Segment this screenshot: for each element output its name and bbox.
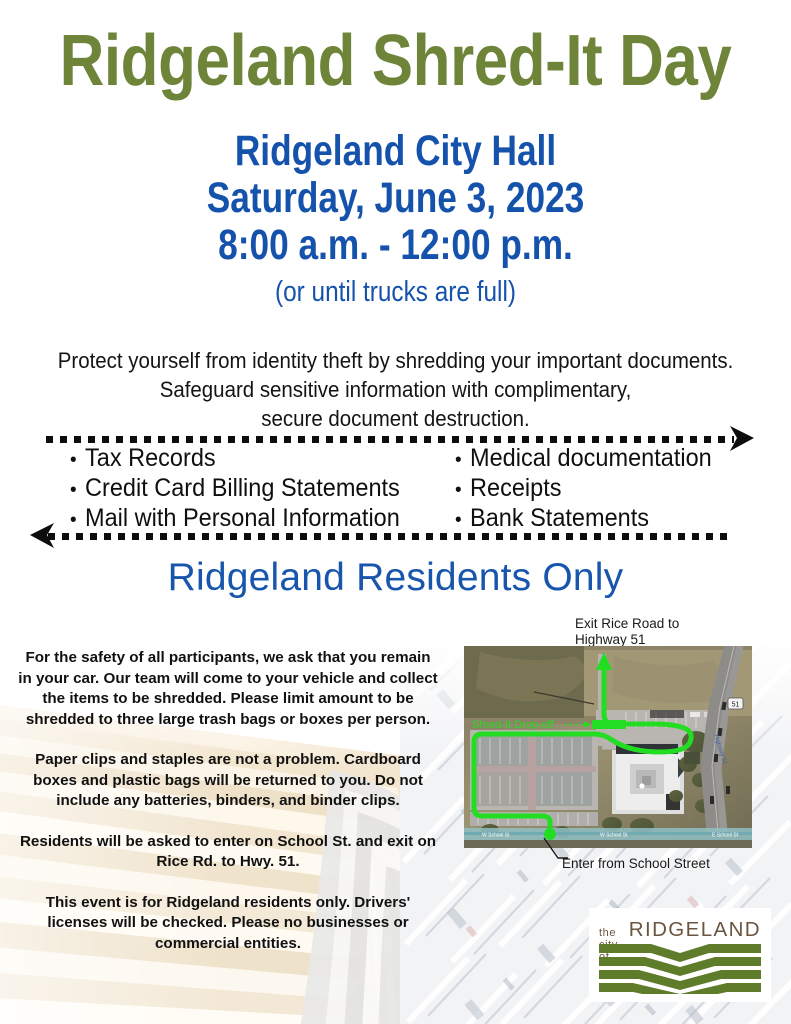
logo-waves-icon bbox=[599, 944, 761, 994]
dotted-rail-top bbox=[46, 436, 734, 443]
list-item: • Tax Records bbox=[70, 444, 432, 474]
bullet-icon: • bbox=[70, 480, 85, 500]
aerial-map-image: 51 Highway 51 W School St W School St E … bbox=[464, 646, 752, 848]
list-item-label: Receipts bbox=[470, 474, 561, 503]
event-details: Ridgeland City Hall Saturday, June 3, 20… bbox=[0, 128, 791, 312]
list-item-label: Mail with Personal Information bbox=[85, 504, 400, 533]
accepted-items-box: • Tax Records • Credit Card Billing Stat… bbox=[38, 434, 743, 544]
accepted-items-columns: • Tax Records • Credit Card Billing Stat… bbox=[38, 444, 743, 534]
bullet-icon: • bbox=[455, 480, 470, 500]
intro-line-2: Safeguard sensitive information with com… bbox=[28, 375, 764, 404]
bullet-icon: • bbox=[70, 450, 85, 470]
svg-text:W School St: W School St bbox=[600, 833, 628, 839]
dropoff-label: Shred-It Drop-off bbox=[472, 719, 555, 731]
list-item-label: Tax Records bbox=[85, 444, 216, 473]
city-logo: the city of RIDGELAND bbox=[589, 908, 771, 1002]
intro-line-1: Protect yourself from identity theft by … bbox=[28, 346, 764, 375]
instructions-paragraph-3: Residents will be asked to enter on Scho… bbox=[18, 832, 438, 873]
map-caption-exit: Exit Rice Road to Highway 51 bbox=[575, 616, 679, 648]
accepted-items-left-column: • Tax Records • Credit Card Billing Stat… bbox=[38, 444, 455, 534]
intro-paragraph: Protect yourself from identity theft by … bbox=[28, 346, 764, 433]
svg-text:W School St: W School St bbox=[482, 833, 510, 839]
list-item: • Medical documentation bbox=[455, 444, 726, 474]
event-venue: Ridgeland City Hall bbox=[71, 128, 720, 175]
svg-text:51: 51 bbox=[732, 702, 740, 709]
dotted-rail-bottom bbox=[48, 533, 730, 540]
list-item: • Credit Card Billing Statements bbox=[70, 474, 432, 504]
logo-name-text: RIDGELAND bbox=[629, 918, 761, 942]
bullet-icon: • bbox=[70, 510, 85, 530]
instructions-column: For the safety of all participants, we a… bbox=[18, 648, 438, 954]
dropoff-marker bbox=[592, 720, 626, 729]
map-caption-enter: Enter from School Street bbox=[562, 856, 710, 872]
residents-only-heading: Ridgeland Residents Only bbox=[0, 556, 791, 600]
list-item: • Mail with Personal Information bbox=[70, 504, 432, 534]
svg-text:E School St: E School St bbox=[712, 833, 739, 839]
poster-root: Ridgeland Shred-It Day Ridgeland City Ha… bbox=[0, 0, 791, 1024]
instructions-paragraph-4: This event is for Ridgeland residents on… bbox=[18, 893, 438, 955]
event-time-note: (or until trucks are full) bbox=[63, 272, 727, 312]
accepted-items-right-column: • Medical documentation • Receipts • Ban… bbox=[455, 444, 743, 534]
bullet-icon: • bbox=[455, 450, 470, 470]
instructions-paragraph-1: For the safety of all participants, we a… bbox=[18, 648, 438, 730]
list-item-label: Medical documentation bbox=[470, 444, 712, 473]
bullet-icon: • bbox=[455, 510, 470, 530]
instructions-paragraph-2: Paper clips and staples are not a proble… bbox=[18, 750, 438, 812]
route-map-panel: Exit Rice Road to Highway 51 bbox=[452, 608, 774, 880]
intro-line-3: secure document destruction. bbox=[28, 404, 764, 433]
highway-shield-icon: 51 bbox=[728, 698, 743, 709]
list-item-label: Credit Card Billing Statements bbox=[85, 474, 400, 503]
list-item: • Bank Statements bbox=[455, 504, 726, 534]
page-title: Ridgeland Shred-It Day bbox=[55, 22, 735, 100]
event-date: Saturday, June 3, 2023 bbox=[71, 175, 720, 222]
list-item: • Receipts bbox=[455, 474, 726, 504]
event-time: 8:00 a.m. - 12:00 p.m. bbox=[71, 222, 720, 269]
list-item-label: Bank Statements bbox=[470, 504, 649, 533]
